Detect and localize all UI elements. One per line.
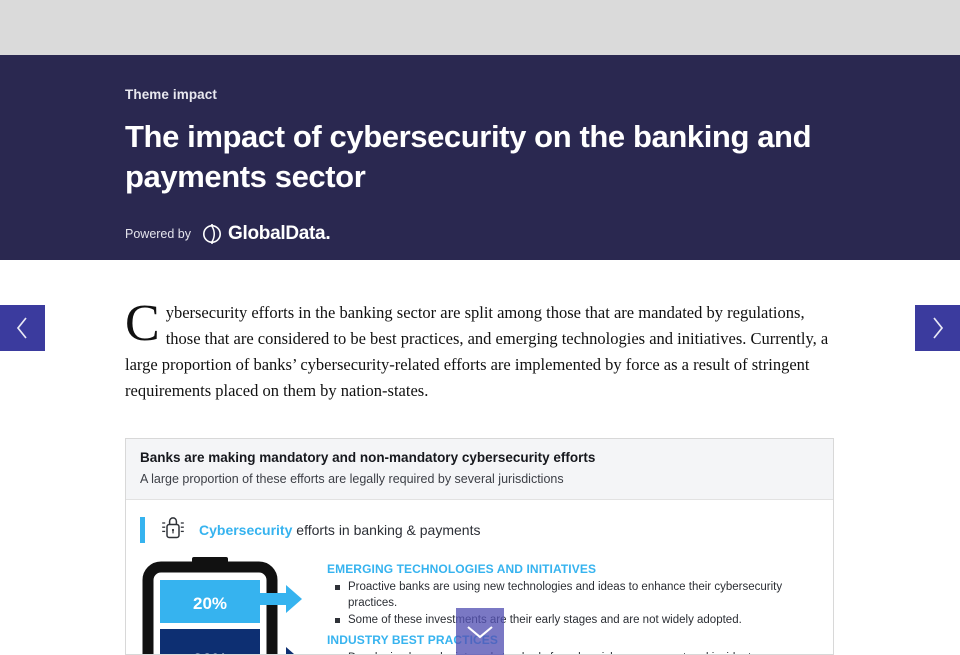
article-header: Theme impact The impact of cybersecurity… xyxy=(0,55,960,260)
eyebrow-label: Theme impact xyxy=(125,87,960,103)
callout-bullet: Some of these investments are their earl… xyxy=(327,612,819,628)
chart-heading-rest: efforts in banking & payments xyxy=(292,522,480,538)
padlock-icon xyxy=(159,512,187,547)
callout-emerging-technologies: EMERGING TECHNOLOGIES AND INITIATIVES Pr… xyxy=(327,561,819,628)
bullet-square-icon xyxy=(335,618,340,623)
infographic-title: Banks are making mandatory and non-manda… xyxy=(140,449,819,467)
bullet-text: Proactive banks are using new technologi… xyxy=(348,579,819,611)
callout-title: EMERGING TECHNOLOGIES AND INITIATIVES xyxy=(327,561,819,578)
bullet-text: Developing bespoke internal standards fo… xyxy=(348,650,819,655)
infographic-header: Banks are making mandatory and non-manda… xyxy=(126,439,833,500)
page-title: The impact of cybersecurity on the banki… xyxy=(125,117,855,197)
chevron-down-icon xyxy=(465,623,495,641)
accent-bar xyxy=(140,517,145,543)
chevron-right-icon xyxy=(929,315,946,341)
next-article-button[interactable] xyxy=(915,305,960,351)
chart-heading-text: Cybersecurity efforts in banking & payme… xyxy=(199,521,480,539)
battery-value-30: 30% xyxy=(193,650,227,655)
callout-best-practices: INDUSTRY BEST PRACTICES Developing bespo… xyxy=(327,632,819,655)
bullet-text: Some of these investments are their earl… xyxy=(348,612,742,628)
chart-heading-highlight: Cybersecurity xyxy=(199,522,292,538)
chevron-left-icon xyxy=(14,315,31,341)
infographic-subtitle: A large proportion of these efforts are … xyxy=(140,470,819,488)
chart-callouts: EMERGING TECHNOLOGIES AND INITIATIVES Pr… xyxy=(315,557,819,655)
callout-bullet: Developing bespoke internal standards fo… xyxy=(327,650,819,655)
arrow-best-practices xyxy=(258,647,302,655)
bullet-square-icon xyxy=(335,585,340,590)
chart-heading: Cybersecurity efforts in banking & payme… xyxy=(140,512,819,547)
padlock-glyph xyxy=(159,512,187,542)
lede-paragraph: Cybersecurity efforts in the banking sec… xyxy=(125,300,835,404)
arrow-emerging-technologies xyxy=(258,585,302,613)
globaldata-wordmark: GlobalData. xyxy=(228,224,330,244)
scroll-down-button[interactable] xyxy=(456,608,504,655)
article-body: Cybersecurity efforts in the banking sec… xyxy=(0,260,960,404)
battery-graphic: 20% 30% xyxy=(140,557,315,655)
previous-article-button[interactable] xyxy=(0,305,45,351)
callout-bullet: Proactive banks are using new technologi… xyxy=(327,579,819,611)
globaldata-mark-icon xyxy=(201,223,223,245)
globaldata-logo: GlobalData. xyxy=(201,223,330,245)
page-viewport: Theme impact The impact of cybersecurity… xyxy=(0,0,960,655)
battery-chart: 20% 30% xyxy=(140,557,315,655)
callout-title: INDUSTRY BEST PRACTICES xyxy=(327,632,819,649)
browser-chrome-strip xyxy=(0,0,960,55)
battery-value-20: 20% xyxy=(193,594,227,613)
powered-by-label: Powered by xyxy=(125,226,191,242)
powered-by-row: Powered by GlobalData. xyxy=(125,223,960,245)
